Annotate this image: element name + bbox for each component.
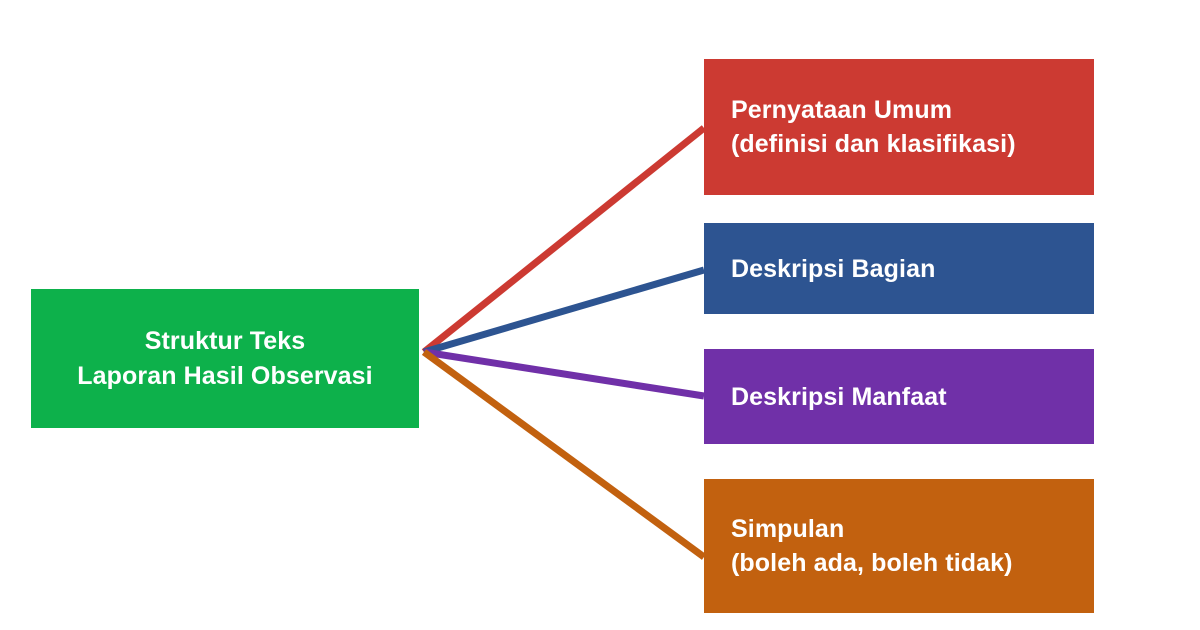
node-deskripsi-bagian-line-1: Deskripsi Bagian xyxy=(731,252,935,286)
node-pernyataan-umum[interactable]: Pernyataan Umum (definisi dan klasifikas… xyxy=(704,59,1094,195)
node-simpulan-line-1: Simpulan xyxy=(731,512,844,546)
node-root-line-1: Struktur Teks xyxy=(145,324,306,359)
diagram-canvas: Struktur Teks Laporan Hasil Observasi Pe… xyxy=(0,0,1200,630)
connector-simpulan xyxy=(424,352,704,557)
connector-pernyataan-umum xyxy=(424,128,704,352)
node-deskripsi-bagian[interactable]: Deskripsi Bagian xyxy=(704,223,1094,314)
node-struktur-teks-laporan-hasil-observasi[interactable]: Struktur Teks Laporan Hasil Observasi xyxy=(31,289,419,428)
connector-deskripsi-bagian xyxy=(424,270,704,352)
node-pernyataan-umum-line-1: Pernyataan Umum xyxy=(731,93,952,127)
node-deskripsi-manfaat[interactable]: Deskripsi Manfaat xyxy=(704,349,1094,444)
node-simpulan[interactable]: Simpulan (boleh ada, boleh tidak) xyxy=(704,479,1094,613)
node-simpulan-line-2: (boleh ada, boleh tidak) xyxy=(731,546,1013,580)
node-root-line-2: Laporan Hasil Observasi xyxy=(77,359,372,394)
node-deskripsi-manfaat-line-1: Deskripsi Manfaat xyxy=(731,380,947,414)
connector-deskripsi-manfaat xyxy=(424,352,704,396)
node-pernyataan-umum-line-2: (definisi dan klasifikasi) xyxy=(731,127,1016,161)
